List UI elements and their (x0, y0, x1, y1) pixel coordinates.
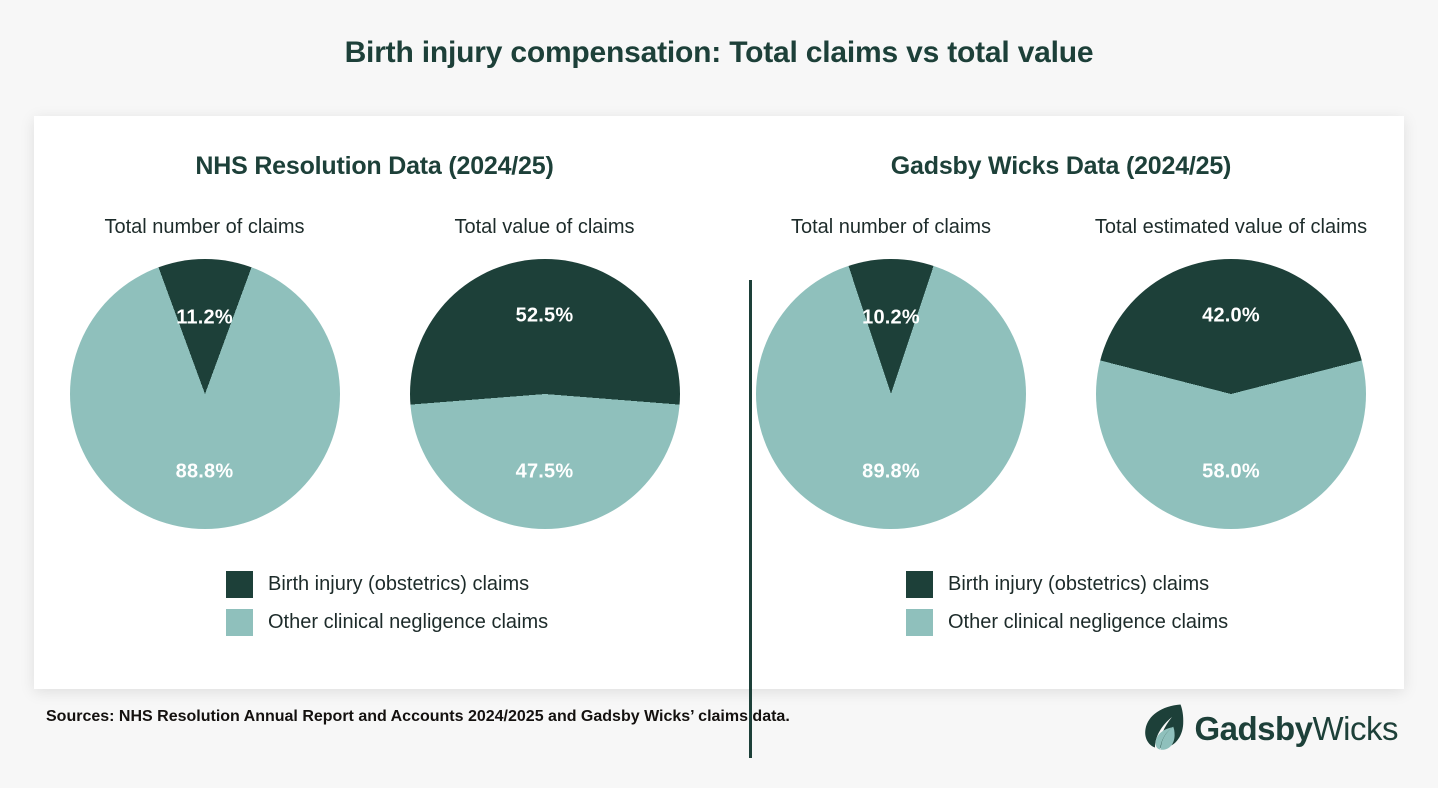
legend-item-birth-injury: Birth injury (obstetrics) claims (226, 571, 548, 598)
chart-caption: Total number of claims (104, 216, 304, 239)
legend-item-label: Other clinical negligence claims (268, 611, 548, 634)
legend-item-label: Other clinical negligence claims (948, 611, 1228, 634)
legend-item-other-clinical-negligence: Other clinical negligence claims (226, 609, 548, 636)
logo-wordmark: GadsbyWicks (1194, 710, 1398, 748)
chart-caption: Total estimated value of claims (1095, 216, 1367, 239)
panel-title: NHS Resolution Data (2024/25) (34, 152, 715, 181)
legend-item-label: Birth injury (obstetrics) claims (268, 573, 529, 596)
logo-word-gadsby: Gadsby (1194, 710, 1312, 747)
legend-item-label: Birth injury (obstetrics) claims (948, 573, 1209, 596)
pie-chart[interactable]: 52.5% 47.5% (410, 259, 680, 529)
pie-slice-label-dark: 11.2% (176, 307, 233, 330)
panel-gadsby-wicks: Gadsby Wicks Data (2024/25) Total number… (718, 116, 1404, 689)
legend-item-birth-injury: Birth injury (obstetrics) claims (906, 571, 1228, 598)
pie-slice-label-light: 88.8% (176, 461, 234, 484)
pie-slice-label-dark: 52.5% (516, 304, 574, 327)
gadsby-wicks-logo: GadsbyWicks (1142, 702, 1398, 755)
sources-note: Sources: NHS Resolution Annual Report an… (46, 708, 790, 726)
legend-swatch-dark (226, 571, 253, 598)
pie-chart[interactable]: 11.2% 88.8% (70, 259, 340, 529)
charts-row: Total number of claims 10.2% 89.8% Total… (718, 216, 1404, 529)
pie-slice-label-light: 58.0% (1202, 461, 1260, 484)
chart-caption: Total value of claims (454, 216, 634, 239)
chart-card: NHS Resolution Data (2024/25) Total numb… (34, 116, 1404, 689)
chart-block-total-number-of-claims: Total number of claims 11.2% 88.8% (35, 216, 375, 529)
pie-slice-label-light: 89.8% (862, 461, 920, 484)
panel-title: Gadsby Wicks Data (2024/25) (718, 152, 1404, 181)
pie-slice-label-dark: 42.0% (1202, 304, 1260, 327)
legend-swatch-light (226, 609, 253, 636)
pie-chart[interactable]: 42.0% 58.0% (1096, 259, 1366, 529)
legend: Birth injury (obstetrics) claims Other c… (226, 571, 548, 636)
legend-swatch-dark (906, 571, 933, 598)
chart-block-total-estimated-value-of-claims: Total estimated value of claims 42.0% 58… (1061, 216, 1401, 529)
legend: Birth injury (obstetrics) claims Other c… (906, 571, 1228, 636)
pie-slice-label-dark: 10.2% (862, 307, 920, 330)
legend-swatch-light (906, 609, 933, 636)
pie-slice-label-light: 47.5% (516, 461, 574, 484)
leaf-icon (1142, 702, 1184, 755)
page-title: Birth injury compensation: Total claims … (0, 36, 1438, 70)
pie-chart[interactable]: 10.2% 89.8% (756, 259, 1026, 529)
chart-block-total-number-of-claims: Total number of claims 10.2% 89.8% (721, 216, 1061, 529)
charts-row: Total number of claims 11.2% 88.8% Total… (34, 216, 715, 529)
chart-block-total-value-of-claims: Total value of claims 52.5% 47.5% (375, 216, 715, 529)
legend-item-other-clinical-negligence: Other clinical negligence claims (906, 609, 1228, 636)
logo-word-wicks: Wicks (1313, 710, 1398, 747)
chart-caption: Total number of claims (791, 216, 991, 239)
panel-nhs-resolution: NHS Resolution Data (2024/25) Total numb… (34, 116, 715, 689)
